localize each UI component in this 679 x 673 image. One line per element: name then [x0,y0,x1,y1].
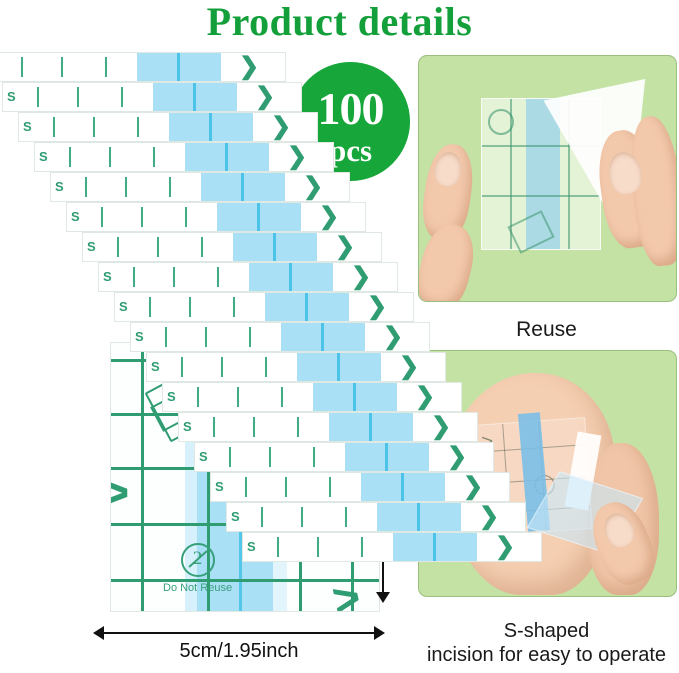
sheet-grid-tick [141,207,143,227]
sheet-edge-mark: S [7,90,16,103]
sheet-edge-mark: S [39,150,48,163]
sheet-grid-tick [109,147,111,167]
sheet-blue-line [369,413,372,441]
sheet-grid-tick [93,117,95,137]
chevron-arrow-icon: ❯ [351,265,371,289]
sheet-grid-tick [313,447,315,467]
chevron-arrow-icon: ❯ [463,475,483,499]
sheet-blue-line [353,383,356,411]
sheet-edge-mark: S [215,480,224,493]
do-not-reuse-mark: Do Not Reuse [163,543,232,596]
sheet-grid-tick [105,57,107,77]
sheet-grid-tick [137,117,139,137]
sheet-blue-line [273,233,276,261]
sheet-grid-tick [53,117,55,137]
sheet-grid-tick [285,477,287,497]
sheet-blue-line [209,113,212,141]
chevron-arrow-icon: ❯ [479,505,499,529]
sheet-edge-mark: S [151,360,160,373]
sheet-grid-tick [153,147,155,167]
sheet-blue-line [433,533,436,561]
sheet-edge-mark: S [23,120,32,133]
sheet-grid-tick [269,447,271,467]
patch-sheet: ❯S [98,262,398,292]
chevron-arrow-icon: ❯ [495,535,515,559]
sheet-edge-mark: S [71,210,80,223]
patch-sheet: ❯S [242,532,542,562]
sheet-edge-mark: S [103,270,112,283]
chevron-arrow-icon: > [110,463,129,523]
sheet-grid-tick [317,537,319,557]
patch-sheet: ❯S [162,382,462,412]
sheet-grid-tick [277,537,279,557]
sheet-blue-line [225,143,228,171]
sheet-grid-tick [281,387,283,407]
sheet-grid-tick [249,327,251,347]
sheet-blue-line [401,473,404,501]
sheet-grid-tick [189,297,191,317]
sheet-grid-tick [61,57,63,77]
sheet-grid-tick [37,87,39,107]
patch-sheet: ❯S [210,472,510,502]
chevron-arrow-icon: ❯ [303,175,323,199]
sheet-grid-tick [169,177,171,197]
product-details-page: Product details ❯S❯S❯S❯S❯S❯S❯S❯S❯S❯S❯S❯S… [0,0,679,673]
chevron-arrow-icon: ❯ [255,85,275,109]
reuse-caption: Reuse [418,318,675,343]
chevron-arrow-icon: > [328,569,366,612]
sheet-grid-tick [261,507,263,527]
patch-sheet: ❯S [2,82,302,112]
chevron-arrow-icon: ❯ [319,205,339,229]
sheet-grid-tick [181,357,183,377]
sheet-grid-tick [85,177,87,197]
do-not-reuse-icon [488,109,514,135]
s-shaped-caption-line2: incision for easy to operate [418,644,675,668]
patch-sheet: ❯S [82,232,382,262]
sheet-blue-line [417,503,420,531]
sheet-grid-tick [253,417,255,437]
sheet-grid-tick [125,177,127,197]
sheet-blue-line [289,263,292,291]
s-shaped-caption-line1: S-shaped [418,620,675,644]
sheet-blue-line [321,323,324,351]
sheet-grid-tick [345,507,347,527]
sheet-grid-tick [361,537,363,557]
sheet-grid-tick [149,297,151,317]
chevron-arrow-icon: ❯ [447,445,467,469]
sheet-grid-tick [229,447,231,467]
page-title: Product details [0,0,679,45]
grid-line-v [141,343,144,611]
sheet-edge-mark: S [199,450,208,463]
chevron-arrow-icon: ❯ [271,115,291,139]
sheet-edge-mark: S [167,390,176,403]
sheet-edge-mark: S [119,300,128,313]
sheet-grid-tick [185,207,187,227]
width-dimension-label: 5cm/1.95inch [103,640,375,663]
patch-sheet: ❯S [50,172,350,202]
patch-sheet: ❯S [146,352,446,382]
patch-sheet: ❯S [130,322,430,352]
chevron-arrow-icon: ❯ [415,385,435,409]
sheet-grid-tick [297,417,299,437]
s-shaped-caption: S-shaped incision for easy to operate [418,620,675,667]
sheet-edge-mark: S [55,180,64,193]
sheet-blue-line [337,353,340,381]
sheet-grid-tick [157,237,159,257]
chevron-arrow-icon: ❯ [287,145,307,169]
sheet-grid-tick [69,147,71,167]
sheet-grid-tick [117,237,119,257]
chevron-arrow-icon: ❯ [335,235,355,259]
reuse-panel [418,55,677,302]
sheet-edge-mark: S [183,420,192,433]
sheet-blue-line [305,293,308,321]
patch-sheet: ❯S [0,52,286,82]
sheet-grid-tick [133,267,135,287]
chevron-arrow-icon: ❯ [383,325,403,349]
sheet-grid-tick [301,507,303,527]
chevron-arrow-icon: ❯ [431,415,451,439]
sheet-edge-mark: S [231,510,240,523]
sheet-blue-line [385,443,388,471]
patch-sheet: ❯S [66,202,366,232]
patch-sheet: ❯S [114,292,414,322]
sheet-edge-mark: S [87,240,96,253]
sheet-blue-line [241,173,244,201]
sheet-grid-tick [205,327,207,347]
sheet-grid-tick [165,327,167,347]
patch-sheet: ❯S [178,412,478,442]
chevron-arrow-icon: ❯ [239,55,259,79]
do-not-reuse-label: Do Not Reuse [163,582,232,594]
do-not-reuse-icon [181,543,215,577]
sheet-grid-tick [221,357,223,377]
sheet-grid-tick [217,267,219,287]
sheet-blue-line [177,53,180,81]
sheet-grid-tick [233,297,235,317]
chevron-arrow-icon: ❯ [367,295,387,319]
sheet-edge-mark: S [247,540,256,553]
width-dimension-arrow [103,632,375,634]
sheet-blue-line [193,83,196,111]
sheet-grid-tick [121,87,123,107]
sheet-grid-tick [329,477,331,497]
sheet-grid-tick [213,417,215,437]
patch-sheet: ❯S [194,442,494,472]
sheet-grid-tick [265,357,267,377]
sheet-grid-tick [237,387,239,407]
patch-sheet: ❯S [34,142,334,172]
chevron-arrow-icon: ❯ [399,355,419,379]
sheet-grid-tick [77,87,79,107]
sheet-grid-tick [21,57,23,77]
patch-sheet: ❯S [18,112,318,142]
sheet-edge-mark: S [135,330,144,343]
sheet-grid-tick [101,207,103,227]
sheet-grid-tick [197,387,199,407]
sheet-grid-tick [173,267,175,287]
sheet-grid-tick [201,237,203,257]
patch-sheet: ❯S [226,502,526,532]
sheet-blue-line [257,203,260,231]
sheet-grid-tick [245,477,247,497]
